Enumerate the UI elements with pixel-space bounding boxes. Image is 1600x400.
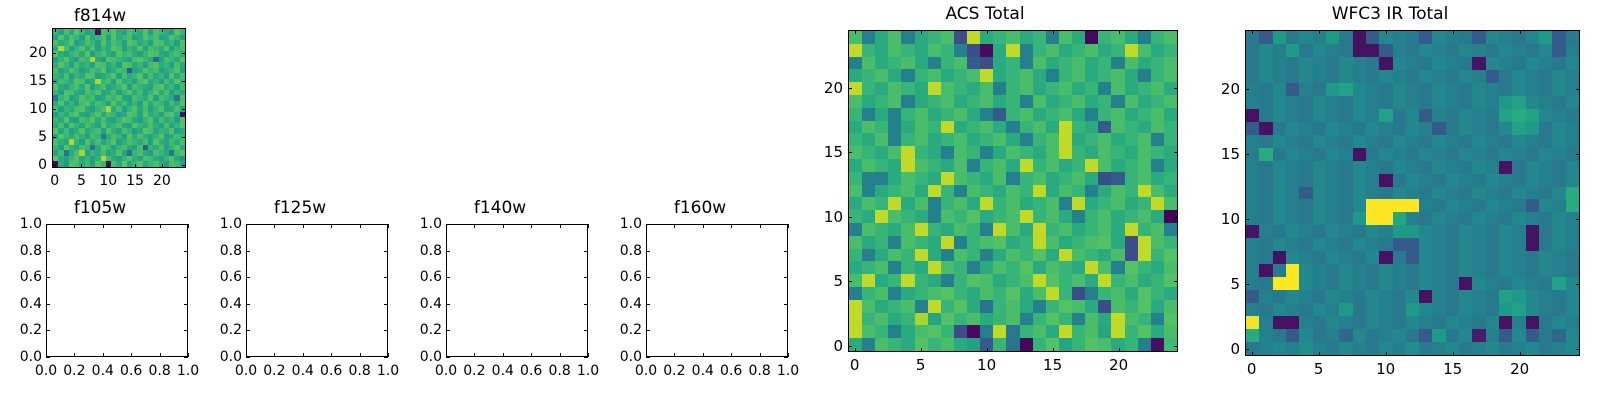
heatmap-cell bbox=[967, 300, 980, 313]
heatmap-cell bbox=[967, 325, 980, 338]
heatmap-cell bbox=[1526, 96, 1539, 109]
heatmap-cell bbox=[954, 44, 967, 57]
heatmap-cell bbox=[941, 197, 954, 210]
heatmap-cell bbox=[1138, 44, 1151, 57]
heatmap-cell bbox=[1033, 197, 1046, 210]
heatmap-cell bbox=[1339, 329, 1352, 342]
heatmap-cell bbox=[862, 133, 875, 146]
heatmap-cell bbox=[1566, 264, 1579, 277]
heatmap-cell bbox=[901, 69, 914, 82]
heatmap-cell bbox=[1446, 329, 1459, 342]
heatmap-cell bbox=[1006, 31, 1019, 44]
heatmap-cell bbox=[1472, 122, 1485, 135]
heatmap-cell bbox=[1072, 287, 1085, 300]
heatmap-cell bbox=[1419, 187, 1432, 200]
heatmap-cell bbox=[1020, 172, 1033, 185]
heatmap-cell bbox=[928, 133, 941, 146]
y-tick-mark bbox=[182, 81, 186, 82]
heatmap-cell bbox=[1273, 96, 1286, 109]
heatmap-cell bbox=[1446, 212, 1459, 225]
heatmap-cell bbox=[1059, 95, 1072, 108]
heatmap-cell bbox=[1393, 303, 1406, 316]
heatmap-cell bbox=[1353, 31, 1366, 44]
heatmap-cell bbox=[1111, 249, 1124, 262]
heatmap-cell bbox=[1313, 212, 1326, 225]
heatmap-cell bbox=[1273, 122, 1286, 135]
heatmap-cell bbox=[1326, 264, 1339, 277]
x-tick-label: 10 bbox=[1376, 361, 1395, 377]
heatmap-cell bbox=[1098, 121, 1111, 134]
heatmap-cell bbox=[1164, 249, 1177, 262]
heatmap-cell bbox=[1246, 122, 1259, 135]
heatmap-cell bbox=[1552, 70, 1565, 83]
heatmap-cell bbox=[928, 95, 941, 108]
heatmap-cell bbox=[954, 159, 967, 172]
x-tick-mark bbox=[135, 28, 136, 32]
heatmap-cell bbox=[875, 249, 888, 262]
x-tick-label: 1.0 bbox=[577, 363, 599, 379]
heatmap-cell bbox=[1552, 303, 1565, 316]
x-tick-mark bbox=[731, 353, 732, 357]
heatmap-cell bbox=[1393, 212, 1406, 225]
heatmap-cell bbox=[1259, 148, 1272, 161]
heatmap-cell bbox=[1366, 342, 1379, 355]
heatmap-cell bbox=[1164, 261, 1177, 274]
heatmap-cell bbox=[967, 44, 980, 57]
heatmap-cell bbox=[1499, 174, 1512, 187]
heatmap-cell bbox=[1526, 122, 1539, 135]
heatmap-cell bbox=[1459, 316, 1472, 329]
heatmap-cell bbox=[1566, 135, 1579, 148]
heatmap-cell bbox=[1366, 31, 1379, 44]
heatmap-cell bbox=[1379, 264, 1392, 277]
heatmap-cell bbox=[1539, 199, 1552, 212]
x-tick-mark bbox=[74, 224, 75, 228]
heatmap-cell bbox=[1273, 238, 1286, 251]
heatmap-cell bbox=[849, 223, 862, 236]
axes-wfc3-ir-total[interactable] bbox=[1245, 30, 1580, 356]
heatmap-cell bbox=[1151, 82, 1164, 95]
heatmap-cell bbox=[888, 325, 901, 338]
x-tick-mark bbox=[1520, 30, 1521, 34]
heatmap-cell bbox=[1033, 287, 1046, 300]
heatmap-cell bbox=[928, 249, 941, 262]
heatmap-cell bbox=[1033, 82, 1046, 95]
heatmap-cell bbox=[1353, 303, 1366, 316]
heatmap-cell bbox=[1393, 199, 1406, 212]
heatmap-cell bbox=[1406, 264, 1419, 277]
heatmap-cell bbox=[1526, 238, 1539, 251]
heatmap-cell bbox=[1299, 238, 1312, 251]
heatmap-cell bbox=[1313, 109, 1326, 122]
heatmap-cell bbox=[967, 313, 980, 326]
heatmap-cell bbox=[1446, 199, 1459, 212]
heatmap-cell bbox=[980, 249, 993, 262]
y-tick-label: 15 bbox=[16, 73, 47, 89]
heatmap-cell bbox=[1486, 44, 1499, 57]
heatmap-cell bbox=[1273, 303, 1286, 316]
heatmap-cell bbox=[1326, 251, 1339, 264]
heatmap-cell bbox=[1459, 329, 1472, 342]
heatmap-cell bbox=[1299, 161, 1312, 174]
heatmap-cell bbox=[1339, 109, 1352, 122]
heatmap-cell bbox=[1299, 264, 1312, 277]
heatmap-cell bbox=[1459, 199, 1472, 212]
heatmap-cell bbox=[875, 210, 888, 223]
heatmap-cell bbox=[901, 31, 914, 44]
heatmap-cell bbox=[1138, 325, 1151, 338]
heatmap-cell bbox=[1486, 238, 1499, 251]
heatmap-cell bbox=[993, 69, 1006, 82]
y-tick-mark bbox=[384, 224, 388, 225]
heatmap-cell bbox=[954, 261, 967, 274]
heatmap-cell bbox=[1299, 174, 1312, 187]
heatmap-cell bbox=[1539, 148, 1552, 161]
heatmap-cell bbox=[1566, 57, 1579, 70]
heatmap-cell bbox=[993, 249, 1006, 262]
heatmap-cell bbox=[1164, 95, 1177, 108]
y-tick-mark bbox=[784, 330, 788, 331]
heatmap-cell bbox=[1313, 70, 1326, 83]
heatmap-cell bbox=[1512, 96, 1525, 109]
x-tick-mark bbox=[921, 348, 922, 352]
heatmap-cell bbox=[993, 325, 1006, 338]
heatmap-cell bbox=[1446, 44, 1459, 57]
heatmap-cell bbox=[915, 210, 928, 223]
heatmap-cell bbox=[901, 44, 914, 57]
heatmap-cell bbox=[954, 69, 967, 82]
heatmap-cell bbox=[1151, 31, 1164, 44]
heatmap-cell bbox=[1326, 329, 1339, 342]
heatmap-cell bbox=[888, 69, 901, 82]
panel-title-acs-total: ACS Total bbox=[790, 4, 1180, 24]
heatmap-cell bbox=[1499, 251, 1512, 264]
heatmap-cell bbox=[1138, 57, 1151, 70]
heatmap-cell bbox=[1432, 161, 1445, 174]
heatmap-cell bbox=[1366, 122, 1379, 135]
heatmap-cell bbox=[1259, 161, 1272, 174]
heatmap-cell bbox=[1020, 57, 1033, 70]
heatmap-cell bbox=[1273, 109, 1286, 122]
heatmap-cell bbox=[1366, 277, 1379, 290]
heatmap-cell bbox=[915, 108, 928, 121]
heatmap-cell bbox=[1472, 148, 1485, 161]
heatmap-cell bbox=[1539, 174, 1552, 187]
heatmap-cell bbox=[915, 261, 928, 274]
heatmap-cell bbox=[1164, 300, 1177, 313]
axes-f814w[interactable] bbox=[52, 28, 186, 168]
heatmap-cell bbox=[1151, 325, 1164, 338]
heatmap-cell bbox=[1459, 225, 1472, 238]
x-tick-mark bbox=[674, 353, 675, 357]
x-tick-mark bbox=[531, 353, 532, 357]
heatmap-cell bbox=[1459, 96, 1472, 109]
heatmap-cell bbox=[1072, 223, 1085, 236]
x-tick-label: 0.2 bbox=[463, 363, 485, 379]
heatmap-cell bbox=[915, 82, 928, 95]
heatmap-cell bbox=[967, 95, 980, 108]
heatmap-cell bbox=[1339, 342, 1352, 355]
heatmap-cell bbox=[862, 95, 875, 108]
x-tick-label: 1.0 bbox=[777, 363, 799, 379]
heatmap-cell bbox=[1259, 122, 1272, 135]
heatmap-cell bbox=[1552, 238, 1565, 251]
heatmap-cell bbox=[1326, 96, 1339, 109]
axes-f140w[interactable] bbox=[446, 224, 588, 357]
heatmap-cell bbox=[1512, 161, 1525, 174]
panel-title-f814w: f814w bbox=[0, 6, 200, 26]
heatmap-cell bbox=[1419, 316, 1432, 329]
x-tick-mark bbox=[135, 164, 136, 168]
heatmap-cell bbox=[993, 172, 1006, 185]
heatmap-cell bbox=[1499, 238, 1512, 251]
heatmap-cell bbox=[1406, 161, 1419, 174]
heatmap-cell bbox=[1085, 236, 1098, 249]
heatmap-cell bbox=[888, 185, 901, 198]
heatmap-cell bbox=[1085, 159, 1098, 172]
x-tick-mark bbox=[1319, 352, 1320, 356]
heatmap-cell bbox=[1406, 96, 1419, 109]
heatmap-cell bbox=[954, 325, 967, 338]
heatmap-cell bbox=[1512, 70, 1525, 83]
heatmap-cell bbox=[1072, 185, 1085, 198]
heatmap-cell bbox=[1125, 57, 1138, 70]
heatmap-cell bbox=[967, 172, 980, 185]
y-tick-mark bbox=[182, 165, 186, 166]
heatmap-cell bbox=[928, 274, 941, 287]
heatmap-cell bbox=[1459, 238, 1472, 251]
heatmap-cell bbox=[915, 146, 928, 159]
heatmap-cell bbox=[1552, 251, 1565, 264]
heatmap-cell bbox=[993, 121, 1006, 134]
y-tick-mark bbox=[1245, 284, 1249, 285]
heatmap-cell bbox=[1259, 342, 1272, 355]
heatmap-cell bbox=[1406, 135, 1419, 148]
heatmap-cell bbox=[1552, 277, 1565, 290]
heatmap-cell bbox=[1085, 325, 1098, 338]
heatmap-cell bbox=[1125, 274, 1138, 287]
heatmap-cell bbox=[1539, 225, 1552, 238]
heatmap-cell bbox=[915, 44, 928, 57]
heatmap-cell bbox=[1059, 133, 1072, 146]
y-tick-label: 0.2 bbox=[2, 322, 42, 338]
y-tick-label: 0.4 bbox=[602, 296, 642, 312]
heatmap-cell bbox=[1098, 236, 1111, 249]
heatmap-cell bbox=[1406, 83, 1419, 96]
heatmap-cell bbox=[1020, 236, 1033, 249]
heatmap-cell bbox=[1299, 148, 1312, 161]
heatmap-cell bbox=[941, 57, 954, 70]
heatmap-cell bbox=[862, 287, 875, 300]
heatmap-cell bbox=[1164, 172, 1177, 185]
heatmap-cell bbox=[1379, 251, 1392, 264]
heatmap-cell bbox=[1151, 210, 1164, 223]
heatmap-cell bbox=[1164, 197, 1177, 210]
heatmap-cell bbox=[1046, 249, 1059, 262]
heatmap-cell bbox=[1472, 70, 1485, 83]
heatmap-cell bbox=[1459, 31, 1472, 44]
heatmap-cell bbox=[993, 159, 1006, 172]
heatmap-cell bbox=[1164, 185, 1177, 198]
heatmap-cell bbox=[1033, 338, 1046, 351]
y-tick-mark bbox=[246, 304, 250, 305]
heatmap-cell bbox=[1033, 121, 1046, 134]
heatmap-cell bbox=[1059, 236, 1072, 249]
heatmap-cell bbox=[1432, 199, 1445, 212]
axes-acs-total[interactable] bbox=[848, 30, 1178, 352]
heatmap-cell bbox=[1046, 210, 1059, 223]
heatmap-grid-f814w bbox=[53, 29, 185, 167]
heatmap-cell bbox=[1085, 121, 1098, 134]
heatmap-cell bbox=[1138, 300, 1151, 313]
heatmap-cell bbox=[875, 44, 888, 57]
heatmap-cell bbox=[1512, 316, 1525, 329]
heatmap-cell bbox=[1313, 316, 1326, 329]
heatmap-cell bbox=[1512, 303, 1525, 316]
heatmap-cell bbox=[1353, 212, 1366, 225]
heatmap-cell bbox=[1033, 185, 1046, 198]
heatmap-cell bbox=[1151, 223, 1164, 236]
axes-f105w[interactable] bbox=[46, 224, 188, 357]
x-tick-mark bbox=[474, 353, 475, 357]
heatmap-cell bbox=[993, 133, 1006, 146]
heatmap-cell bbox=[1111, 197, 1124, 210]
heatmap-cell bbox=[1085, 197, 1098, 210]
heatmap-cell bbox=[1419, 277, 1432, 290]
heatmap-cell bbox=[1366, 161, 1379, 174]
heatmap-cell bbox=[1459, 303, 1472, 316]
heatmap-cell bbox=[1151, 172, 1164, 185]
x-tick-mark bbox=[921, 30, 922, 34]
heatmap-cell bbox=[1246, 329, 1259, 342]
heatmap-cell bbox=[1472, 44, 1485, 57]
heatmap-cell bbox=[1098, 274, 1111, 287]
heatmap-cell bbox=[1125, 223, 1138, 236]
heatmap-cell bbox=[1259, 225, 1272, 238]
heatmap-cell bbox=[967, 210, 980, 223]
heatmap-cell bbox=[1020, 44, 1033, 57]
heatmap-cell bbox=[1046, 287, 1059, 300]
heatmap-cell bbox=[980, 121, 993, 134]
heatmap-cell bbox=[1326, 31, 1339, 44]
heatmap-cell bbox=[1486, 70, 1499, 83]
heatmap-cell bbox=[1033, 325, 1046, 338]
heatmap-cell bbox=[1085, 261, 1098, 274]
heatmap-cell bbox=[1432, 290, 1445, 303]
y-tick-mark bbox=[1174, 281, 1178, 282]
heatmap-cell bbox=[862, 69, 875, 82]
heatmap-cell bbox=[1098, 210, 1111, 223]
heatmap-cell bbox=[1046, 57, 1059, 70]
heatmap-cell bbox=[941, 185, 954, 198]
heatmap-cell bbox=[888, 172, 901, 185]
heatmap-cell bbox=[1366, 329, 1379, 342]
heatmap-cell bbox=[1339, 251, 1352, 264]
heatmap-cell bbox=[1486, 148, 1499, 161]
heatmap-cell bbox=[1286, 290, 1299, 303]
heatmap-cell bbox=[1286, 329, 1299, 342]
heatmap-cell bbox=[1286, 225, 1299, 238]
heatmap-cell bbox=[901, 274, 914, 287]
y-tick-mark bbox=[848, 346, 852, 347]
heatmap-cell bbox=[1286, 83, 1299, 96]
heatmap-cell bbox=[1379, 70, 1392, 83]
heatmap-cell bbox=[1366, 264, 1379, 277]
heatmap-cell bbox=[888, 31, 901, 44]
heatmap-cell bbox=[1339, 174, 1352, 187]
heatmap-cell bbox=[1512, 148, 1525, 161]
x-tick-label: 0.8 bbox=[348, 363, 370, 379]
heatmap-cell bbox=[1552, 122, 1565, 135]
axes-f125w[interactable] bbox=[246, 224, 388, 357]
heatmap-cell bbox=[888, 313, 901, 326]
y-tick-mark bbox=[784, 357, 788, 358]
heatmap-cell bbox=[967, 82, 980, 95]
y-tick-label: 0.0 bbox=[2, 349, 42, 365]
heatmap-cell bbox=[1006, 185, 1019, 198]
heatmap-cell bbox=[1566, 251, 1579, 264]
heatmap-cell bbox=[1393, 342, 1406, 355]
heatmap-cell bbox=[1552, 83, 1565, 96]
heatmap-cell bbox=[1033, 133, 1046, 146]
heatmap-cell bbox=[1552, 44, 1565, 57]
heatmap-cell bbox=[1393, 251, 1406, 264]
heatmap-cell bbox=[1353, 122, 1366, 135]
heatmap-cell bbox=[1419, 70, 1432, 83]
x-tick-label: 0 bbox=[850, 357, 860, 373]
heatmap-cell bbox=[1379, 329, 1392, 342]
heatmap-cell bbox=[1326, 212, 1339, 225]
heatmap-cell bbox=[1406, 225, 1419, 238]
x-tick-mark bbox=[103, 224, 104, 228]
y-tick-mark bbox=[784, 251, 788, 252]
heatmap-cell bbox=[1499, 161, 1512, 174]
heatmap-cell bbox=[1020, 133, 1033, 146]
heatmap-cell bbox=[993, 287, 1006, 300]
heatmap-cell bbox=[875, 95, 888, 108]
heatmap-cell bbox=[993, 261, 1006, 274]
heatmap-cell bbox=[1512, 199, 1525, 212]
y-tick-label: 10 bbox=[16, 101, 47, 117]
heatmap-cell bbox=[1085, 338, 1098, 351]
heatmap-cell bbox=[862, 146, 875, 159]
heatmap-cell bbox=[1379, 109, 1392, 122]
heatmap-cell bbox=[1393, 277, 1406, 290]
heatmap-cell bbox=[1366, 174, 1379, 187]
heatmap-cell bbox=[1072, 338, 1085, 351]
x-tick-mark bbox=[55, 28, 56, 32]
heatmap-cell bbox=[1552, 31, 1565, 44]
heatmap-cell bbox=[1286, 238, 1299, 251]
heatmap-cell bbox=[901, 185, 914, 198]
heatmap-cell bbox=[1299, 199, 1312, 212]
heatmap-cell bbox=[1151, 261, 1164, 274]
heatmap-cell bbox=[1125, 197, 1138, 210]
heatmap-cell bbox=[928, 44, 941, 57]
heatmap-cell bbox=[1299, 316, 1312, 329]
heatmap-cell bbox=[1299, 70, 1312, 83]
heatmap-cell bbox=[1326, 238, 1339, 251]
heatmap-cell bbox=[1033, 57, 1046, 70]
heatmap-cell bbox=[1273, 148, 1286, 161]
x-tick-mark bbox=[503, 353, 504, 357]
axes-f160w[interactable] bbox=[646, 224, 788, 357]
x-tick-mark bbox=[331, 353, 332, 357]
heatmap-cell bbox=[1125, 69, 1138, 82]
x-tick-mark bbox=[531, 224, 532, 228]
y-tick-label: 0.8 bbox=[2, 243, 42, 259]
heatmap-cell bbox=[1526, 329, 1539, 342]
